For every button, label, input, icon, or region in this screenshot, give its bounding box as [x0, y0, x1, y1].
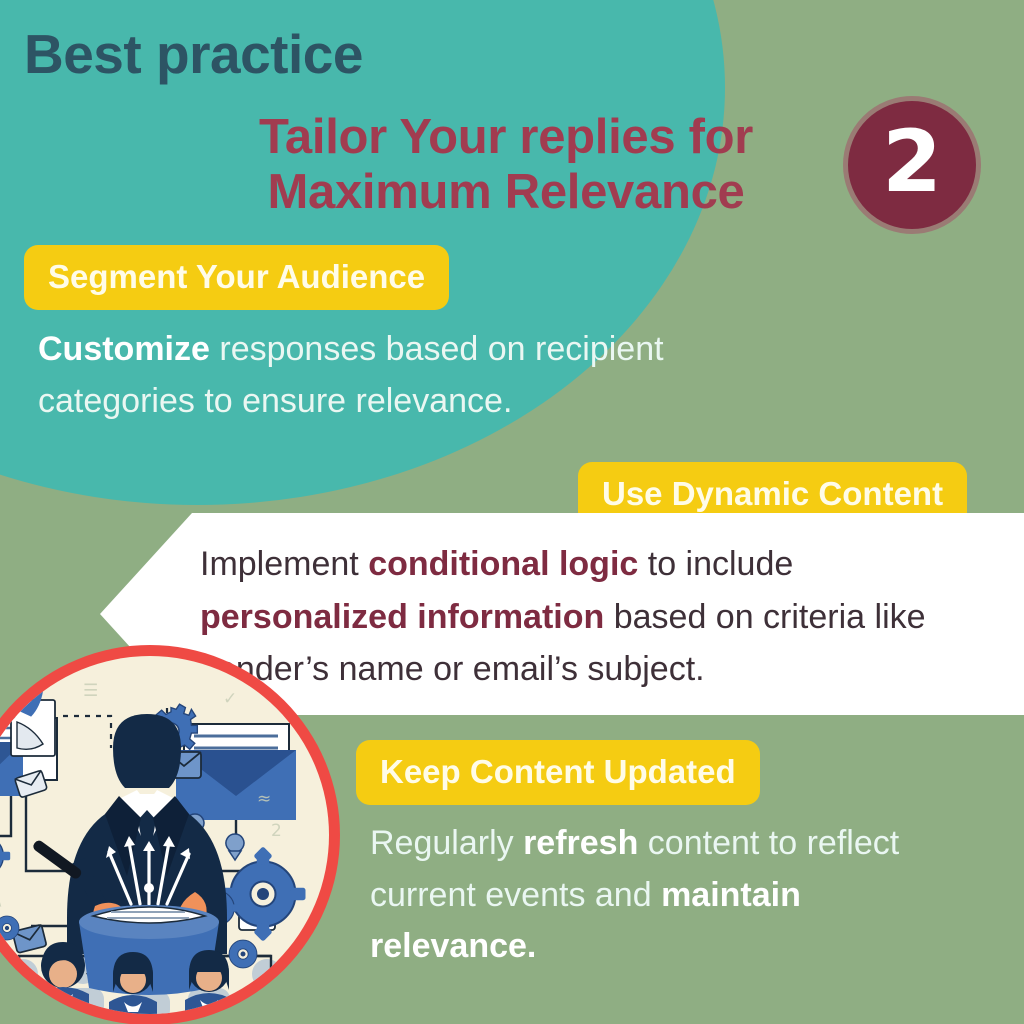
badge-keep-content-updated: Keep Content Updated	[356, 740, 760, 805]
keep-part-b: refresh	[523, 824, 638, 862]
svg-text:☰: ☰	[83, 681, 98, 701]
body-text-segment: Customize responses based on recipient c…	[38, 324, 818, 427]
page-title: Tailor Your replies for Maximum Relevanc…	[186, 110, 826, 221]
callout-part-d: personalized information	[200, 598, 604, 636]
svg-text:2: 2	[271, 821, 282, 841]
svg-text:✓: ✓	[223, 689, 237, 709]
body-segment-lead: Customize	[38, 330, 210, 368]
callout-part-a: Implement	[200, 545, 368, 583]
keep-part-a: Regularly	[370, 824, 523, 862]
body-text-keep: Regularly refresh content to reflect cur…	[370, 818, 930, 973]
callout-part-b: conditional logic	[368, 545, 638, 583]
svg-text:≈: ≈	[257, 789, 271, 809]
step-number-badge: 2	[843, 96, 981, 234]
step-number-text: 2	[882, 119, 942, 205]
headline-line-2: Maximum Relevance	[186, 165, 826, 220]
headline-line-1: Tailor Your replies for	[186, 110, 826, 165]
kicker-heading: Best practice	[24, 22, 363, 86]
svg-text:✎: ✎	[0, 893, 3, 913]
email-personalization-illustration: ☰ ✓ 2 ≈ ✎	[0, 645, 340, 1024]
badge-segment-your-audience: Segment Your Audience	[24, 245, 449, 310]
callout-part-c: to include	[638, 545, 793, 583]
infographic-poster: 2 Best practice Tailor Your replies for …	[0, 0, 1024, 1024]
